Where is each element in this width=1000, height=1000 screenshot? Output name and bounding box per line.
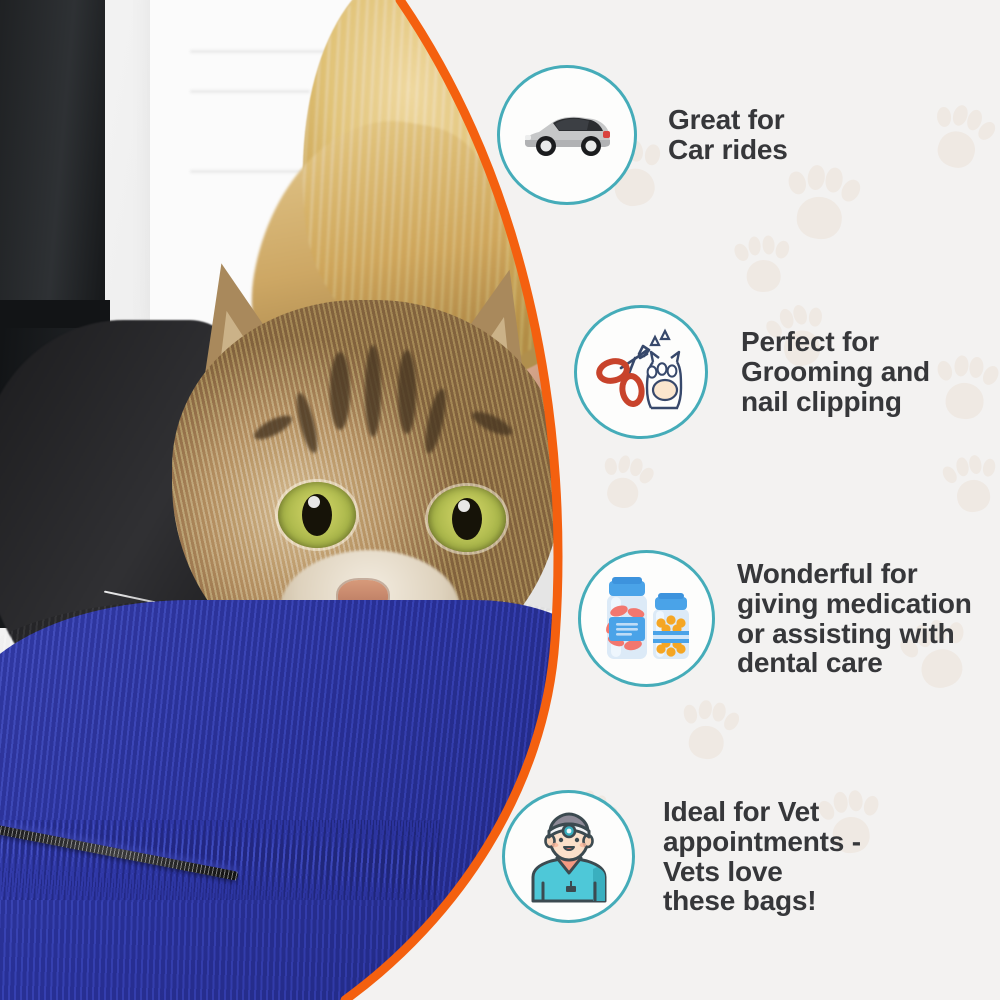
car-icon-glyph	[519, 107, 615, 163]
medicine-bottles-icon	[578, 550, 715, 687]
paw-print-decoration	[780, 160, 862, 249]
veterinarian-icon-glyph	[523, 811, 615, 903]
paw-print-decoration	[940, 451, 1000, 521]
infographic-canvas: Great for Car rides	[0, 0, 1000, 1000]
feature-item-grooming[interactable]: Perfect for Grooming and nail clipping	[574, 305, 930, 439]
cat-eye-left	[278, 482, 356, 548]
feature-item-medication[interactable]: Wonderful for giving medication or assis…	[578, 550, 972, 687]
paw-print-decoration	[733, 233, 792, 299]
veterinarian-icon	[502, 790, 635, 923]
car-icon	[497, 65, 637, 205]
feature-item-car-rides[interactable]: Great for Car rides	[497, 65, 788, 205]
paw-print-decoration	[675, 696, 741, 769]
feature-label: Perfect for Grooming and nail clipping	[741, 327, 930, 417]
feature-label: Great for Car rides	[668, 105, 788, 165]
computer-monitor	[0, 0, 105, 310]
feature-label: Wonderful for giving medication or assis…	[737, 559, 972, 679]
nail-clippers-paw-icon	[574, 305, 708, 439]
feature-item-vet[interactable]: Ideal for Vet appointments - Vets love t…	[502, 790, 861, 923]
nail-clippers-paw-icon-glyph	[595, 328, 687, 416]
paw-print-decoration	[921, 97, 999, 180]
cat-eye-right	[428, 486, 506, 552]
feature-label: Ideal for Vet appointments - Vets love t…	[663, 797, 861, 917]
paw-print-decoration	[932, 352, 1000, 428]
paw-print-decoration	[594, 450, 657, 518]
medicine-bottles-icon-glyph	[599, 573, 695, 665]
